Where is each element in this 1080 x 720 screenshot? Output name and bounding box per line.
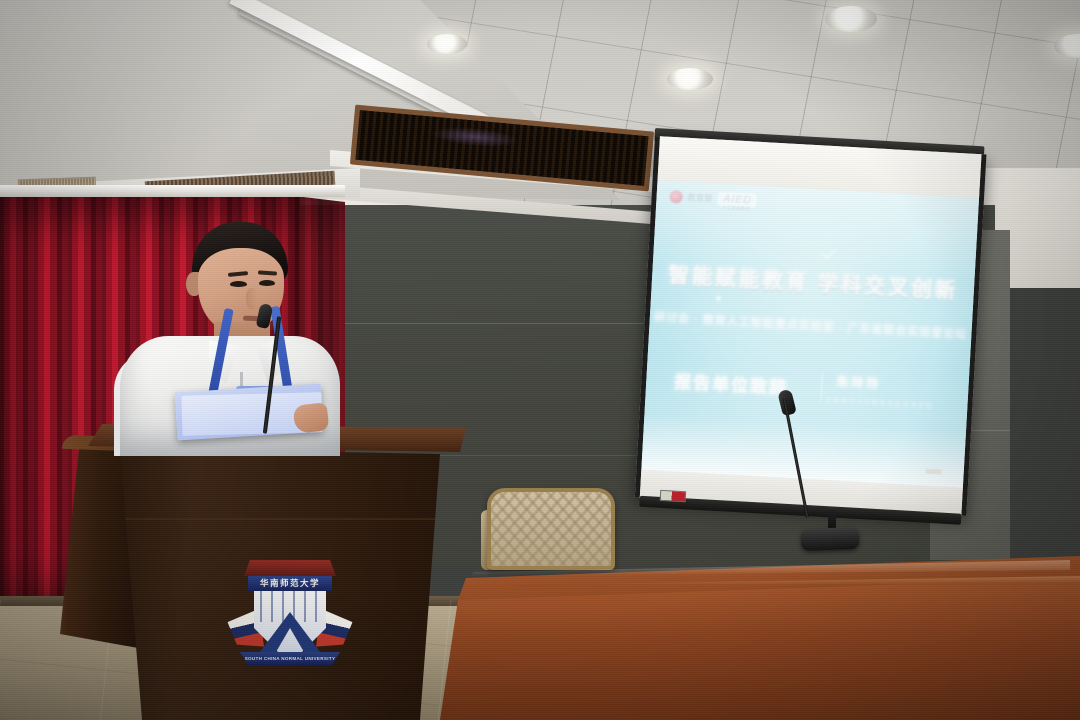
speaker-eye-right xyxy=(259,280,275,286)
ceiling-downlight-4 xyxy=(427,34,467,54)
speaker-face xyxy=(198,248,284,332)
ceiling-downlight-1 xyxy=(825,6,877,32)
screen-side-tab xyxy=(926,469,942,475)
ceiling-downlight-3 xyxy=(667,68,713,90)
speaker-nose xyxy=(246,288,258,310)
emblem-top-banner: 1933 xyxy=(244,560,336,576)
projected-slide: 教育部 AIED 人工智能教育 智能赋能教育 学科交叉创新 研讨会 · 教育人工… xyxy=(641,180,979,488)
emblem-university-name-cn: 华南师范大学 xyxy=(248,576,332,591)
speaker-eye-left xyxy=(230,281,247,287)
conference-hall-photo: 教育部 AIED 人工智能教育 智能赋能教育 学科交叉创新 研讨会 · 教育人工… xyxy=(0,0,1080,720)
projection-screen: 教育部 AIED 人工智能教育 智能赋能教育 学科交叉创新 研讨会 · 教育人工… xyxy=(635,136,987,516)
conference-table-front-panel xyxy=(418,578,1080,720)
speaker-hand xyxy=(293,402,330,433)
screen-warning-label xyxy=(660,490,687,502)
conference-chair xyxy=(487,488,615,570)
emblem-university-name-en: SOUTH CHINA NORMAL UNIVERSITY xyxy=(240,652,340,665)
table-microphone-base xyxy=(801,527,860,551)
university-emblem: 1933 华南师范大学 SOUTH CHINA NORMAL UNIVERSIT… xyxy=(238,556,342,674)
curtain-rail-valance xyxy=(0,185,345,197)
